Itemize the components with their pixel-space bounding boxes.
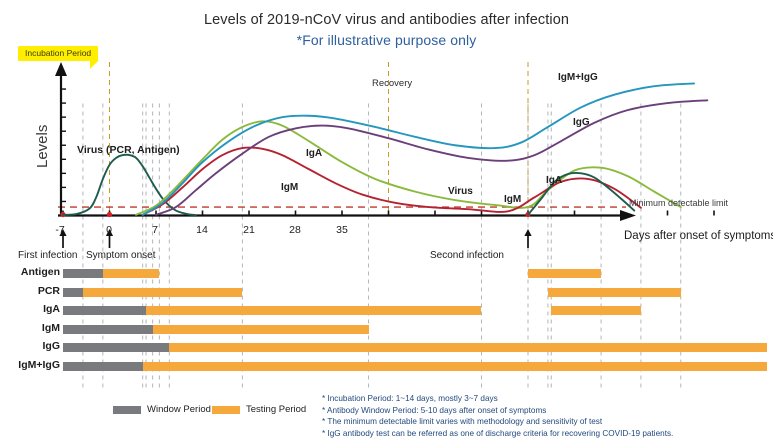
legend-testing-period: Testing Period	[212, 404, 306, 415]
x-tick-14: 14	[187, 224, 217, 236]
legend-swatch-window	[113, 406, 141, 414]
second-infection-label: Second infection	[430, 250, 504, 261]
curve-4	[143, 83, 694, 214]
curve-label-igm-second: IgM	[504, 194, 521, 205]
x-tick-35: 35	[327, 224, 357, 236]
infographic-root: Levels of 2019-nCoV virus and antibodies…	[0, 0, 773, 448]
window-period-bar-igm-igg	[63, 362, 143, 371]
x-axis-label: Days after onset of symptoms	[624, 230, 773, 242]
x-tick-0: 0	[94, 224, 124, 236]
curve-label-igg: IgG	[573, 117, 590, 128]
curve-2	[143, 148, 641, 215]
footnote-1: * Incubation Period: 1~14 days, mostly 3…	[322, 393, 762, 405]
footnote-3: * The minimum detectable limit varies wi…	[322, 416, 762, 428]
first-infection-label: First infection	[18, 250, 77, 261]
symptom-onset-label: Symptom onset	[86, 250, 155, 261]
testing-period-bar-igm-igg	[143, 362, 767, 371]
curve-label-igm-first: IgM	[281, 182, 298, 193]
event-dot-1	[107, 212, 112, 217]
x-tick--7: -7	[45, 224, 75, 236]
testing-period-bar-pcr	[83, 288, 242, 297]
timeline-row-label-igg: IgG	[0, 340, 60, 352]
minimum-detectable-limit-label: Minimum detectable limit	[629, 198, 728, 208]
testing-period-bar-igm	[153, 325, 369, 334]
window-period-bar-iga	[63, 306, 146, 315]
x-tick-21: 21	[234, 224, 264, 236]
footnotes-block: * Incubation Period: 1~14 days, mostly 3…	[322, 393, 762, 439]
curve-label-igm-igg: IgM+IgG	[558, 72, 598, 83]
testing-period-bar-second-pcr	[548, 288, 681, 297]
testing-period-bar-second-antigen	[528, 269, 601, 278]
window-period-bar-pcr	[63, 288, 83, 297]
timeline-row-label-pcr: PCR	[0, 285, 60, 297]
timeline-row-label-igm-igg: IgM+IgG	[0, 359, 60, 371]
window-period-bar-igm	[63, 325, 153, 334]
x-tick-7: 7	[140, 224, 170, 236]
curve-3	[156, 100, 707, 215]
y-axis-arrowhead	[55, 62, 67, 76]
x-tick-28: 28	[280, 224, 310, 236]
legend-label-testing: Testing Period	[246, 404, 306, 415]
testing-period-bar-antigen	[103, 269, 159, 278]
window-period-bar-igg	[63, 343, 169, 352]
window-period-bar-antigen	[63, 269, 103, 278]
timeline-row-label-igm: IgM	[0, 322, 60, 334]
testing-period-bar-iga	[146, 306, 481, 315]
legend-swatch-testing	[212, 406, 240, 414]
x-axis-arrowhead	[620, 210, 636, 221]
footnote-4: * IgG antibody test can be referred as o…	[322, 428, 762, 440]
legend-window-period: Window Period	[113, 404, 211, 415]
timeline-row-label-iga: IgA	[0, 303, 60, 315]
curve-label-virus-first: Virus (PCR, Antigen)	[77, 144, 180, 156]
testing-period-bar-second-iga	[551, 306, 641, 315]
timeline-row-label-antigen: Antigen	[0, 266, 60, 278]
testing-period-bar-igg	[169, 343, 767, 352]
curve-label-virus-second: Virus	[448, 186, 473, 197]
recovery-label: Recovery	[372, 78, 412, 89]
legend-label-window: Window Period	[147, 404, 211, 415]
event-arrow-head-2	[524, 229, 531, 236]
curve-label-iga-first: IgA	[306, 148, 322, 159]
y-axis-label: Levels	[34, 125, 51, 168]
footnote-2: * Antibody Window Period: 5-10 days afte…	[322, 405, 762, 417]
curve-label-iga-second: IgA	[546, 175, 562, 186]
